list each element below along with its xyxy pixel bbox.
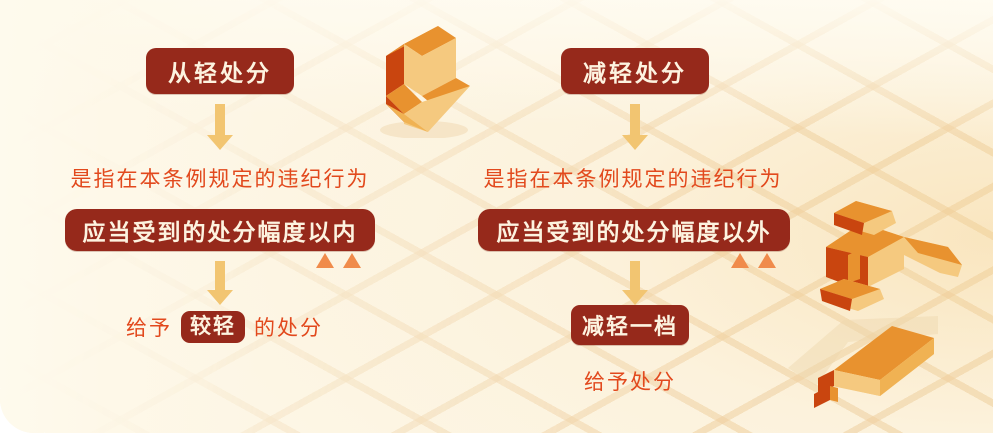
description-text-jianqing: 是指在本条例规定的违纪行为 [458,163,808,193]
down-arrow-3d-icon [366,14,476,138]
scope-badge-congqing: 应当受到的处分幅度以内 [65,209,375,251]
marker-triangle-left-2 [343,253,361,268]
result-badge-jianqing: 减轻一档 [571,305,689,345]
arrow-scope-to-result-left [205,261,235,305]
marker-triangle-left-1 [316,253,334,268]
background-corner-mask [0,388,45,433]
gavel-3d-icon [800,195,980,325]
result-note-jianqing: 给予处分 [570,366,690,396]
arrow-title-to-description-left [205,104,235,150]
result-suffix-congqing: 的处分 [254,312,323,342]
description-text-congqing: 是指在本条例规定的违纪行为 [45,163,395,193]
marker-triangle-right-1 [731,253,749,268]
title-badge-jianqing: 减轻处分 [561,48,709,94]
marker-triangle-right-2 [758,253,776,268]
result-chip-congqing: 较轻 [181,311,245,343]
arrow-scope-to-result-right [620,261,650,305]
scope-badge-jianqing: 应当受到的处分幅度以外 [478,209,790,251]
infographic-canvas: 从轻处分 是指在本条例规定的违纪行为 应当受到的处分幅度以内 给予 较轻 的处分… [0,0,993,433]
arrow-title-to-description-right [620,104,650,150]
result-row-congqing: 给予 较轻 的处分 [126,311,323,343]
title-badge-congqing: 从轻处分 [146,48,294,94]
result-prefix-congqing: 给予 [126,312,172,342]
sound-block-3d-icon [788,308,968,418]
